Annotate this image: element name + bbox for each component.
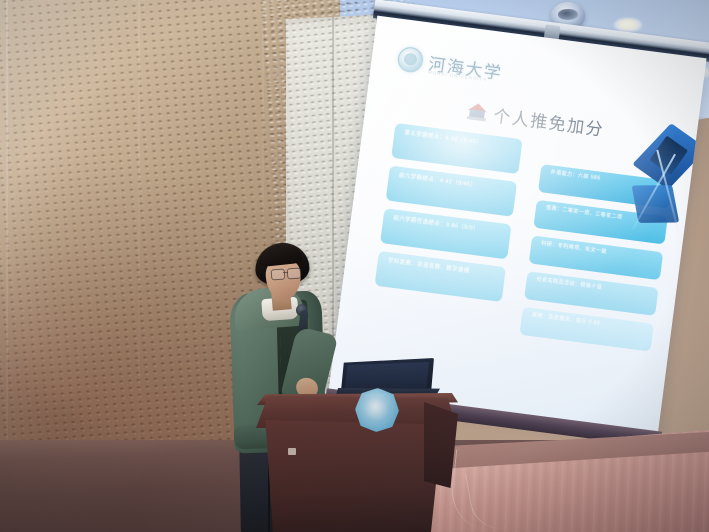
list-item: 第五学期绩点：4.38（9/45） [391,123,522,174]
lectern-icon [467,102,488,121]
podium-front-panel [258,420,444,532]
list-item: 其他：志愿服务、加分 0.05 [519,307,654,352]
lecture-hall-photo: 河海大学 HOHAI UNIVERSITY 个人推免加分 第五学期绩点：4.38… [0,0,709,532]
list-item: 学科竞赛：英语竞赛、数学建模 [375,251,506,302]
slide-title-text: 个人推免加分 [492,102,606,141]
laptop-screen[interactable] [345,362,429,388]
hohai-seal-icon [396,45,424,73]
blue-geometric-decoration-icon [630,125,703,251]
list-item: 前六学期绩点：4.42（9/45） [386,166,517,217]
slide-left-column: 第五学期绩点：4.38（9/45） 前六学期绩点：4.42（9/45） 前六学期… [374,123,523,310]
glasses-icon [271,268,303,278]
podium-label-tag [288,448,296,455]
slide-logo: 河海大学 HOHAI UNIVERSITY [396,41,529,91]
list-item: 前六学期任选绩点：3.86（5/9） [380,208,511,259]
